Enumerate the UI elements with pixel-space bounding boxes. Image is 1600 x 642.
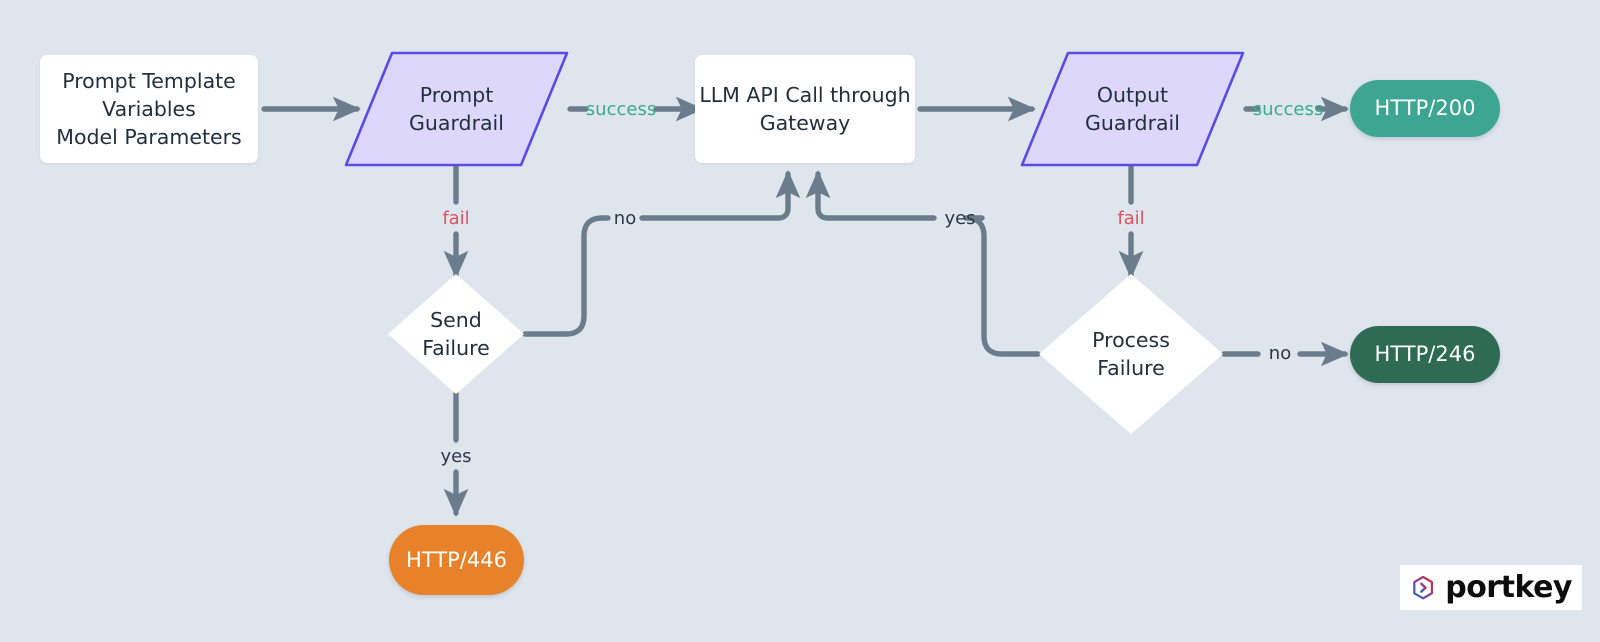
edge-label-process-failure-no: no	[1269, 345, 1291, 363]
http-446-label: HTTP/446	[406, 546, 507, 575]
portkey-wordmark: portkey	[1445, 573, 1572, 603]
output-guardrail-line-1: Output	[1085, 81, 1180, 109]
edge-label-send-failure-yes: yes	[440, 448, 471, 466]
prompt-guardrail-node[interactable]: Prompt Guardrail	[346, 53, 567, 165]
output-guardrail-label: Output Guardrail	[1022, 53, 1243, 165]
output-guardrail-line-2: Guardrail	[1085, 109, 1180, 137]
http-246-label: HTTP/246	[1375, 340, 1476, 369]
edge-label-output-fail: fail	[1117, 210, 1144, 228]
http-200-pill[interactable]: HTTP/200	[1350, 80, 1500, 137]
edge-process-failure-yes-to-llm	[818, 174, 934, 218]
portkey-hexagon-icon	[1410, 569, 1436, 607]
llm-api-call-line-1: LLM API Call through	[699, 81, 910, 109]
http-200-label: HTTP/200	[1375, 94, 1476, 123]
input-node-line-3: Model Parameters	[56, 123, 241, 151]
prompt-guardrail-line-1: Prompt	[409, 81, 504, 109]
input-node-line-1: Prompt Template	[56, 67, 241, 95]
edge-process-failure-yes-leg	[966, 218, 1038, 354]
edge-send-failure-no-leg	[525, 218, 608, 334]
llm-api-call-node[interactable]: LLM API Call through Gateway	[695, 55, 915, 163]
input-node[interactable]: Prompt Template Variables Model Paramete…	[40, 55, 258, 163]
edge-label-output-success: success	[1253, 101, 1323, 119]
process-failure-line-2: Failure	[1092, 354, 1170, 382]
edge-label-prompt-success: success	[586, 101, 656, 119]
llm-api-call-line-2: Gateway	[699, 109, 910, 137]
edge-label-send-failure-no: no	[614, 210, 636, 228]
send-failure-line-2: Failure	[422, 334, 489, 362]
send-failure-line-1: Send	[422, 306, 489, 334]
http-446-pill[interactable]: HTTP/446	[389, 525, 524, 595]
output-guardrail-node[interactable]: Output Guardrail	[1022, 53, 1243, 165]
send-failure-decision[interactable]: Send Failure	[388, 274, 524, 394]
edge-label-prompt-fail: fail	[442, 210, 469, 228]
prompt-guardrail-label: Prompt Guardrail	[346, 53, 567, 165]
edge-send-failure-no-to-llm	[642, 174, 788, 218]
portkey-logo: portkey	[1400, 565, 1582, 610]
input-node-line-2: Variables	[56, 95, 241, 123]
process-failure-decision[interactable]: Process Failure	[1039, 274, 1223, 434]
edge-label-process-failure-yes: yes	[944, 210, 975, 228]
prompt-guardrail-line-2: Guardrail	[409, 109, 504, 137]
flowchart-canvas: Prompt Template Variables Model Paramete…	[0, 0, 1600, 642]
http-246-pill[interactable]: HTTP/246	[1350, 326, 1500, 383]
send-failure-label: Send Failure	[388, 274, 524, 394]
process-failure-label: Process Failure	[1039, 274, 1223, 434]
process-failure-line-1: Process	[1092, 326, 1170, 354]
